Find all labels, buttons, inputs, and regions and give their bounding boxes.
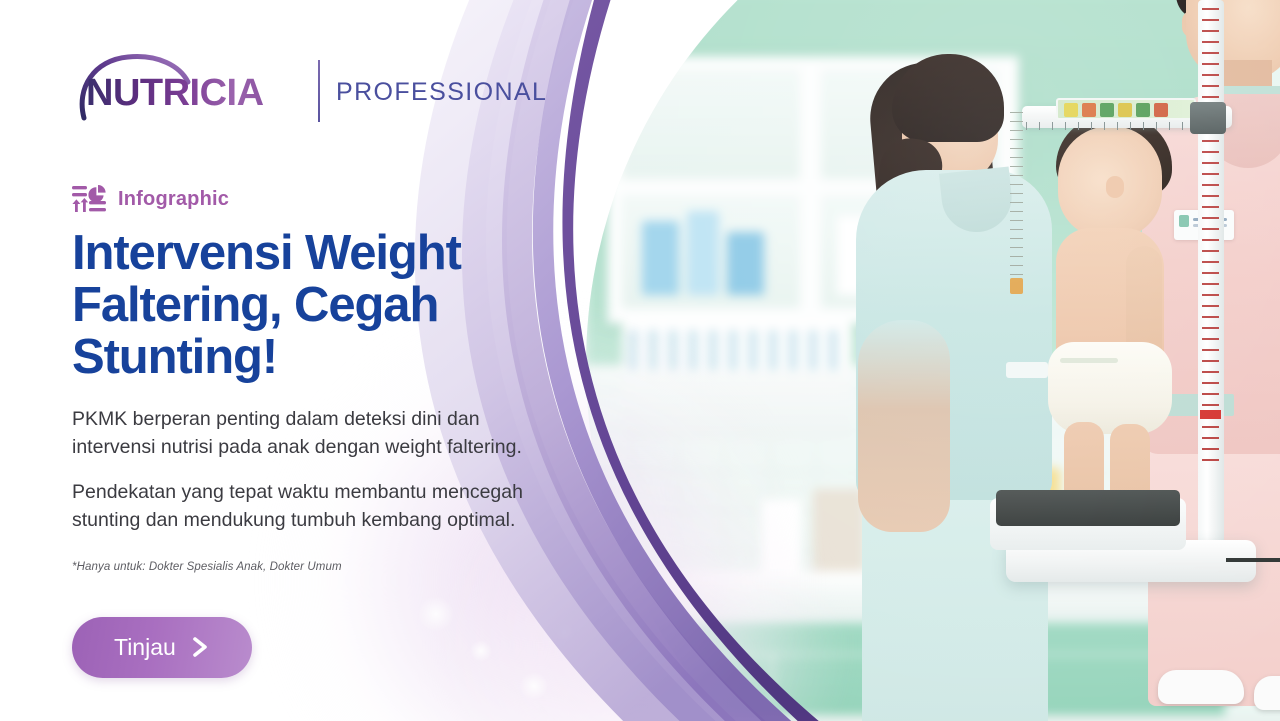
- body-paragraph-2: Pendekatan yang tepat waktu membantu men…: [72, 479, 560, 534]
- body-paragraph-1: PKMK berperan penting dalam deteksi dini…: [72, 406, 560, 461]
- hero-banner: NUTRICIA PROFESSIONAL Infographic: [0, 0, 1280, 721]
- logo-divider: [318, 60, 320, 122]
- content-type-label: Infographic: [118, 188, 229, 211]
- brand-logo[interactable]: NUTRICIA PROFESSIONAL: [72, 52, 442, 124]
- brand-suffix: PROFESSIONAL: [336, 78, 547, 107]
- infographic-icon: [72, 184, 106, 214]
- brand-wordmark: NUTRICIA: [86, 72, 264, 115]
- review-button-label: Tinjau: [114, 634, 176, 661]
- content-type-tag: Infographic: [72, 184, 560, 214]
- hero-content: NUTRICIA PROFESSIONAL Infographic: [0, 0, 560, 721]
- hero-photo: [586, 0, 1280, 721]
- chevron-right-icon: [190, 635, 212, 659]
- stadiometer: [586, 0, 1280, 721]
- page-title: Intervensi Weight Faltering, Cegah Stunt…: [72, 228, 542, 384]
- review-button[interactable]: Tinjau: [72, 617, 252, 678]
- audience-disclaimer: *Hanya untuk: Dokter Spesialis Anak, Dok…: [72, 561, 560, 573]
